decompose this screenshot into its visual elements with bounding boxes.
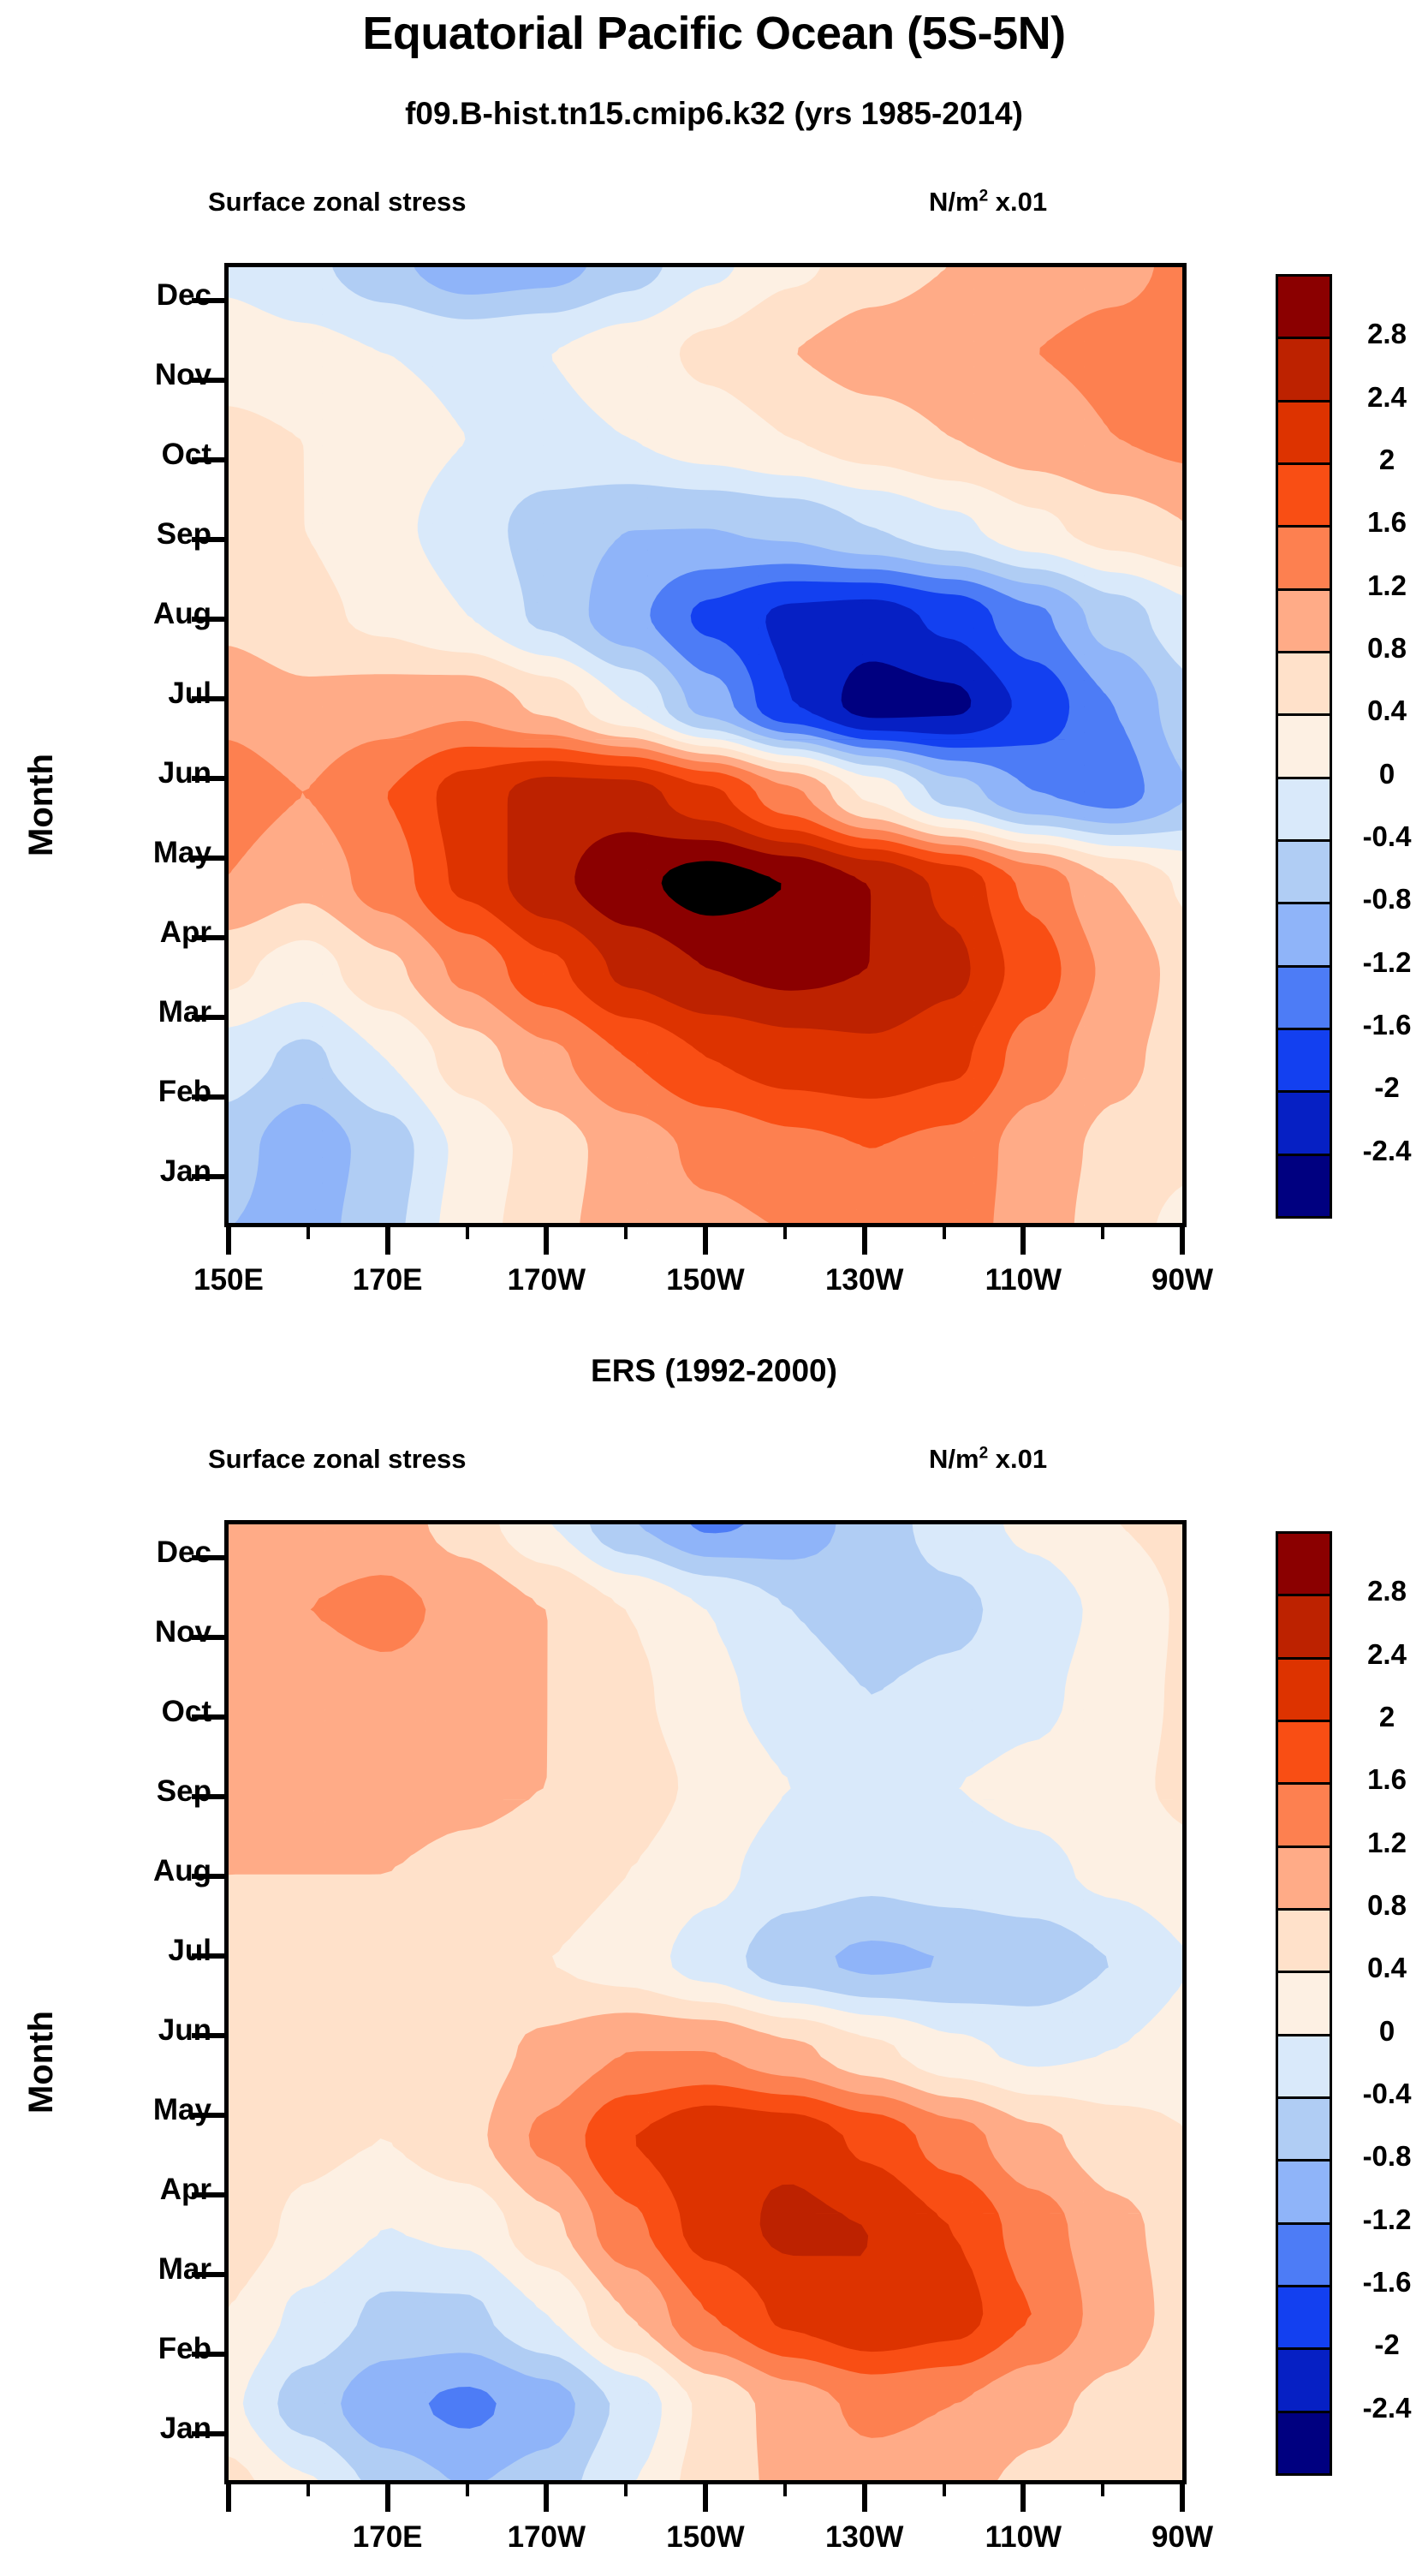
colorbar-swatch	[1276, 2347, 1332, 2412]
x-tick-minor	[943, 2483, 946, 2496]
colorbar-tick-label: 2.4	[1346, 381, 1428, 414]
colorbar-swatch	[1276, 337, 1332, 402]
colorbar-tick-label: 2	[1346, 1701, 1428, 1733]
colorbar-swatch	[1276, 462, 1332, 528]
y-tick	[192, 856, 224, 861]
month-label: Dec	[40, 1535, 211, 1570]
colorbar-tick-label: 1.2	[1346, 1827, 1428, 1859]
colorbar-tick-label: 1.6	[1346, 506, 1428, 539]
y-tick	[192, 1714, 224, 1720]
colorbar-tick-label: 0.8	[1346, 632, 1428, 665]
y-tick	[192, 378, 224, 383]
x-tick-minor	[783, 2483, 787, 2496]
colorbar-swatch	[1276, 965, 1332, 1030]
month-label: Feb	[40, 2332, 211, 2366]
colorbar-tick-label: -2.4	[1346, 1135, 1428, 1167]
month-label: Aug	[40, 1854, 211, 1888]
y-tick	[192, 2192, 224, 2197]
colorbar-tick-label: 0.8	[1346, 1889, 1428, 1922]
colorbar-swatch	[1276, 400, 1332, 465]
y-tick	[192, 617, 224, 622]
month-label: Oct	[40, 438, 211, 472]
colorbar-swatch	[1276, 902, 1332, 967]
contour-field-obs	[224, 1520, 1187, 2484]
month-label: Nov	[40, 358, 211, 392]
y-tick	[192, 935, 224, 940]
y-tick	[192, 2272, 224, 2277]
units-label-obs: N/m2 x.01	[929, 1444, 1047, 1475]
longitude-label: 170E	[311, 2520, 465, 2555]
colorbar-tick-label: -1.6	[1346, 1009, 1428, 1041]
longitude-label: 110W	[946, 1263, 1100, 1297]
colorbar-tick-label: -2	[1346, 1071, 1428, 1104]
colorbar-swatch	[1276, 588, 1332, 653]
colorbar-swatch	[1276, 1154, 1332, 1219]
longitude-label: 170E	[311, 1263, 465, 1297]
colorbar-swatch	[1276, 1531, 1332, 1596]
colorbar-swatch	[1276, 2034, 1332, 2099]
colorbar-tick-label: 0	[1346, 758, 1428, 790]
x-tick-minor	[943, 1225, 946, 1239]
month-label: May	[40, 2093, 211, 2127]
y-tick	[192, 1635, 224, 1640]
x-tick	[703, 1225, 708, 1255]
units-label-model: N/m2 x.01	[929, 187, 1047, 218]
colorbar-obs: 2.82.421.61.20.80.40-0.4-0.8-1.2-1.6-2-2…	[1276, 1531, 1428, 2473]
month-label: Jul	[40, 1934, 211, 1968]
longitude-label: 170W	[469, 2520, 623, 2555]
y-tick	[192, 2352, 224, 2357]
x-tick	[703, 2483, 708, 2512]
colorbar-tick-label: -0.4	[1346, 820, 1428, 853]
x-tick	[226, 1225, 231, 1255]
colorbar-swatch	[1276, 2411, 1332, 2476]
colorbar-tick-label: 1.6	[1346, 1763, 1428, 1796]
colorbar-tick-label: 1.2	[1346, 569, 1428, 602]
colorbar-tick-label: 2.8	[1346, 318, 1428, 350]
longitude-label: 150W	[628, 1263, 782, 1297]
y-tick	[192, 776, 224, 781]
colorbar-swatch	[1276, 651, 1332, 716]
colorbar-swatch	[1276, 1594, 1332, 1659]
field-label-obs: Surface zonal stress	[208, 1444, 467, 1475]
colorbar-swatch	[1276, 525, 1332, 590]
colorbar-swatch	[1276, 1782, 1332, 1847]
x-tick-minor	[1101, 2483, 1104, 2496]
longitude-label: 110W	[946, 2520, 1100, 2555]
colorbar-tick-label: 0.4	[1346, 695, 1428, 727]
month-label: Jan	[40, 1154, 211, 1189]
longitude-label: 170W	[469, 1263, 623, 1297]
colorbar-tick-label: -1.2	[1346, 946, 1428, 979]
month-label: Dec	[40, 278, 211, 313]
longitude-label: 150W	[628, 2520, 782, 2555]
y-tick	[192, 2431, 224, 2436]
month-label: Nov	[40, 1615, 211, 1649]
y-tick	[192, 1794, 224, 1799]
y-tick	[192, 298, 224, 303]
panel-title-obs: ERS (1992-2000)	[0, 1353, 1428, 1389]
x-tick	[862, 2483, 867, 2512]
contour-plot-obs[interactable]	[224, 1520, 1187, 2484]
colorbar-tick-label: 0.4	[1346, 1952, 1428, 1984]
y-tick	[192, 1555, 224, 1560]
colorbar-swatch	[1276, 2285, 1332, 2350]
y-tick	[192, 696, 224, 701]
colorbar-tick-label: 0	[1346, 2015, 1428, 2048]
x-tick-minor	[624, 1225, 628, 1239]
x-tick	[862, 1225, 867, 1255]
x-tick	[385, 2483, 390, 2512]
colorbar-swatch	[1276, 2096, 1332, 2162]
colorbar-swatch	[1276, 1908, 1332, 1973]
month-label: Sep	[40, 1774, 211, 1809]
longitude-label: 150E	[152, 1263, 306, 1297]
colorbar-swatch	[1276, 1971, 1332, 2036]
month-label: Sep	[40, 517, 211, 552]
contour-field-model	[224, 263, 1187, 1227]
colorbar-swatch	[1276, 777, 1332, 842]
month-label: Jan	[40, 2412, 211, 2446]
x-tick-minor	[783, 1225, 787, 1239]
colorbar-tick-label: -0.8	[1346, 2140, 1428, 2173]
colorbar-swatch	[1276, 2159, 1332, 2224]
colorbar-swatch	[1276, 1657, 1332, 1722]
colorbar-tick-label: -1.6	[1346, 2266, 1428, 2299]
colorbar-swatch	[1276, 1090, 1332, 1155]
colorbar-tick-label: -1.2	[1346, 2203, 1428, 2236]
month-label: Mar	[40, 2252, 211, 2287]
y-tick	[192, 1953, 224, 1959]
y-tick	[192, 1015, 224, 1020]
y-tick	[192, 1174, 224, 1179]
x-tick-minor	[306, 2483, 310, 2496]
colorbar-swatch	[1276, 274, 1332, 339]
colorbar-tick-label: -0.4	[1346, 2078, 1428, 2110]
colorbar-swatch	[1276, 2222, 1332, 2287]
month-label: Mar	[40, 995, 211, 1029]
x-tick	[226, 2483, 231, 2512]
panel-title-model: f09.B-hist.tn15.cmip6.k32 (yrs 1985-2014…	[0, 96, 1428, 132]
longitude-label: 90W	[1105, 2520, 1259, 2555]
longitude-label: 90W	[1105, 1263, 1259, 1297]
month-label: Oct	[40, 1695, 211, 1729]
colorbar-model: 2.82.421.61.20.80.40-0.4-0.8-1.2-1.6-2-2…	[1276, 274, 1428, 1216]
x-tick-minor	[466, 2483, 469, 2496]
page-title: Equatorial Pacific Ocean (5S-5N)	[0, 7, 1428, 60]
x-tick	[1020, 1225, 1026, 1255]
month-label: Apr	[40, 915, 211, 950]
colorbar-swatch	[1276, 1028, 1332, 1093]
month-label: Feb	[40, 1075, 211, 1109]
x-tick-minor	[466, 1225, 469, 1239]
colorbar-tick-label: 2.8	[1346, 1575, 1428, 1607]
colorbar-tick-label: -2.4	[1346, 2392, 1428, 2424]
x-tick-minor	[1101, 1225, 1104, 1239]
y-tick	[192, 457, 224, 462]
x-tick-minor	[306, 1225, 310, 1239]
colorbar-swatch	[1276, 713, 1332, 778]
x-tick	[1180, 2483, 1185, 2512]
colorbar-swatch	[1276, 1846, 1332, 1911]
colorbar-tick-label: 2.4	[1346, 1638, 1428, 1671]
colorbar-tick-label: -0.8	[1346, 883, 1428, 915]
month-label: Jul	[40, 677, 211, 711]
x-tick	[385, 1225, 390, 1255]
y-tick	[192, 2113, 224, 2118]
colorbar-tick-label: -2	[1346, 2329, 1428, 2361]
month-label: Jun	[40, 756, 211, 790]
month-label: Jun	[40, 2013, 211, 2048]
y-tick	[192, 1874, 224, 1879]
x-tick	[544, 1225, 549, 1255]
month-label: Apr	[40, 2173, 211, 2207]
contour-plot-model[interactable]	[224, 263, 1187, 1227]
y-tick	[192, 537, 224, 542]
x-tick	[1180, 1225, 1185, 1255]
y-tick	[192, 1094, 224, 1100]
x-tick	[1020, 2483, 1026, 2512]
x-tick	[544, 2483, 549, 2512]
colorbar-swatch	[1276, 839, 1332, 904]
month-label: Aug	[40, 597, 211, 631]
field-label-model: Surface zonal stress	[208, 187, 467, 218]
longitude-label: 130W	[788, 1263, 942, 1297]
x-tick-minor	[624, 2483, 628, 2496]
longitude-label: 130W	[788, 2520, 942, 2555]
colorbar-tick-label: 2	[1346, 444, 1428, 476]
month-label: May	[40, 836, 211, 870]
y-tick	[192, 2033, 224, 2038]
colorbar-swatch	[1276, 1720, 1332, 1785]
